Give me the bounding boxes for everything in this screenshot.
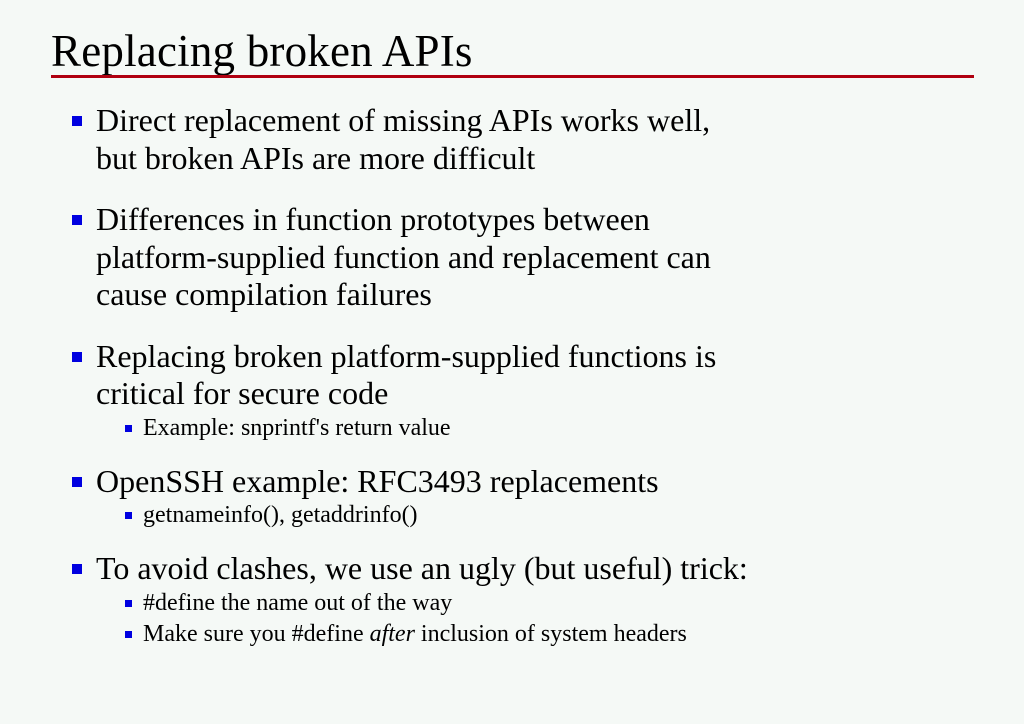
- sub-bullet-line: #define the name out of the way: [143, 588, 1024, 619]
- bullet-item: Direct replacement of missing APIs works…: [0, 102, 1024, 177]
- text-run-italic: after: [370, 621, 415, 647]
- bullet-item: Replacing broken platform-supplied funct…: [0, 338, 1024, 413]
- slide-title-area: Replacing broken APIs: [51, 26, 974, 76]
- sub-bullet-square-icon: [125, 425, 132, 432]
- block-spacer: [0, 314, 1024, 338]
- block-spacer: [0, 531, 1024, 550]
- bullet-square-icon: [72, 352, 82, 362]
- sub-bullet-square-icon: [125, 512, 132, 519]
- sub-bullet-line: Example: snprintf's return value: [143, 413, 1024, 444]
- sub-bullet-item: Example: snprintf's return value: [0, 413, 1024, 444]
- sub-bullet-item: getnameinfo(), getaddrinfo(): [0, 500, 1024, 531]
- title-underline-rule: [51, 75, 974, 78]
- bullet-line: To avoid clashes, we use an ugly (but us…: [96, 550, 1024, 588]
- sub-bullet-square-icon: [125, 631, 132, 638]
- sub-bullet-square-icon: [125, 600, 132, 607]
- text-run-prefix: Make sure you #define: [143, 621, 370, 647]
- sub-bullet-line-rich: Make sure you #define after inclusion of…: [143, 619, 1024, 650]
- bullet-line: platform-supplied function and replaceme…: [96, 239, 1024, 277]
- page-title: Replacing broken APIs: [51, 26, 974, 76]
- sub-bullet-line: getnameinfo(), getaddrinfo(): [143, 500, 1024, 531]
- bullet-line: Replacing broken platform-supplied funct…: [96, 338, 1024, 376]
- sub-bullet-item: #define the name out of the way: [0, 588, 1024, 619]
- block-spacer: [0, 177, 1024, 201]
- bullet-square-icon: [72, 477, 82, 487]
- bullet-line: cause compilation failures: [96, 276, 1024, 314]
- bullet-square-icon: [72, 116, 82, 126]
- bullet-square-icon: [72, 215, 82, 225]
- bullet-line: Direct replacement of missing APIs works…: [96, 102, 1024, 140]
- bullet-line: critical for secure code: [96, 375, 1024, 413]
- bullet-line: Differences in function prototypes betwe…: [96, 201, 1024, 239]
- slide-body: Direct replacement of missing APIs works…: [0, 102, 1024, 650]
- bullet-item: OpenSSH example: RFC3493 replacements: [0, 463, 1024, 501]
- bullet-line: OpenSSH example: RFC3493 replacements: [96, 463, 1024, 501]
- text-run-suffix: inclusion of system headers: [415, 621, 687, 647]
- bullet-line: but broken APIs are more difficult: [96, 140, 1024, 178]
- bullet-square-icon: [72, 564, 82, 574]
- block-spacer: [0, 444, 1024, 463]
- bullet-item: Differences in function prototypes betwe…: [0, 201, 1024, 314]
- bullet-item: To avoid clashes, we use an ugly (but us…: [0, 550, 1024, 588]
- sub-bullet-item: Make sure you #define after inclusion of…: [0, 619, 1024, 650]
- slide-canvas: Replacing broken APIs Direct replacement…: [0, 0, 1024, 724]
